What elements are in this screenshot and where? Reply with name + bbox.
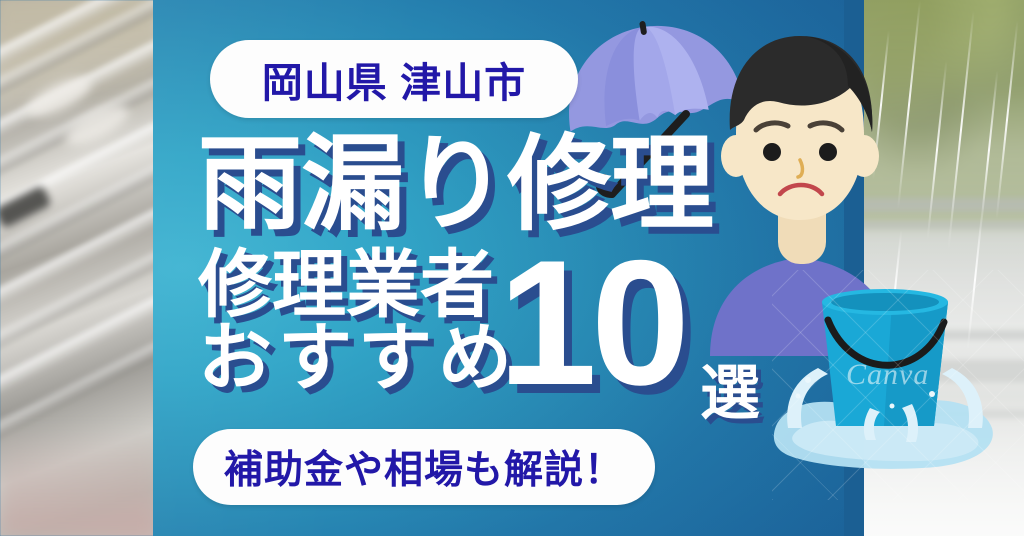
leaking-bucket-illustration: [772, 276, 1002, 476]
subheadline-line-1: 修理業者: [198, 249, 518, 322]
left-roof-photo: [0, 0, 156, 536]
footer-pill-label: 補助金や相場も解説！: [224, 439, 624, 495]
roof-bottom-tint: [0, 426, 156, 536]
big-number-suffix: 選: [700, 345, 760, 432]
region-pill-label: 岡山県 津山市: [262, 49, 526, 109]
headline: 雨漏り修理: [198, 133, 713, 237]
banner: Canva 岡山県 津山市 雨漏り修理 修理業者 おすすめ 10 選 補助金や相…: [0, 0, 1024, 536]
region-pill: 岡山県 津山市: [210, 40, 578, 118]
big-number: 10: [498, 234, 684, 412]
subheadline-line-2: おすすめ: [198, 322, 518, 395]
subheadline-stack: 修理業者 おすすめ: [198, 249, 518, 394]
footer-pill: 補助金や相場も解説！: [193, 429, 655, 505]
